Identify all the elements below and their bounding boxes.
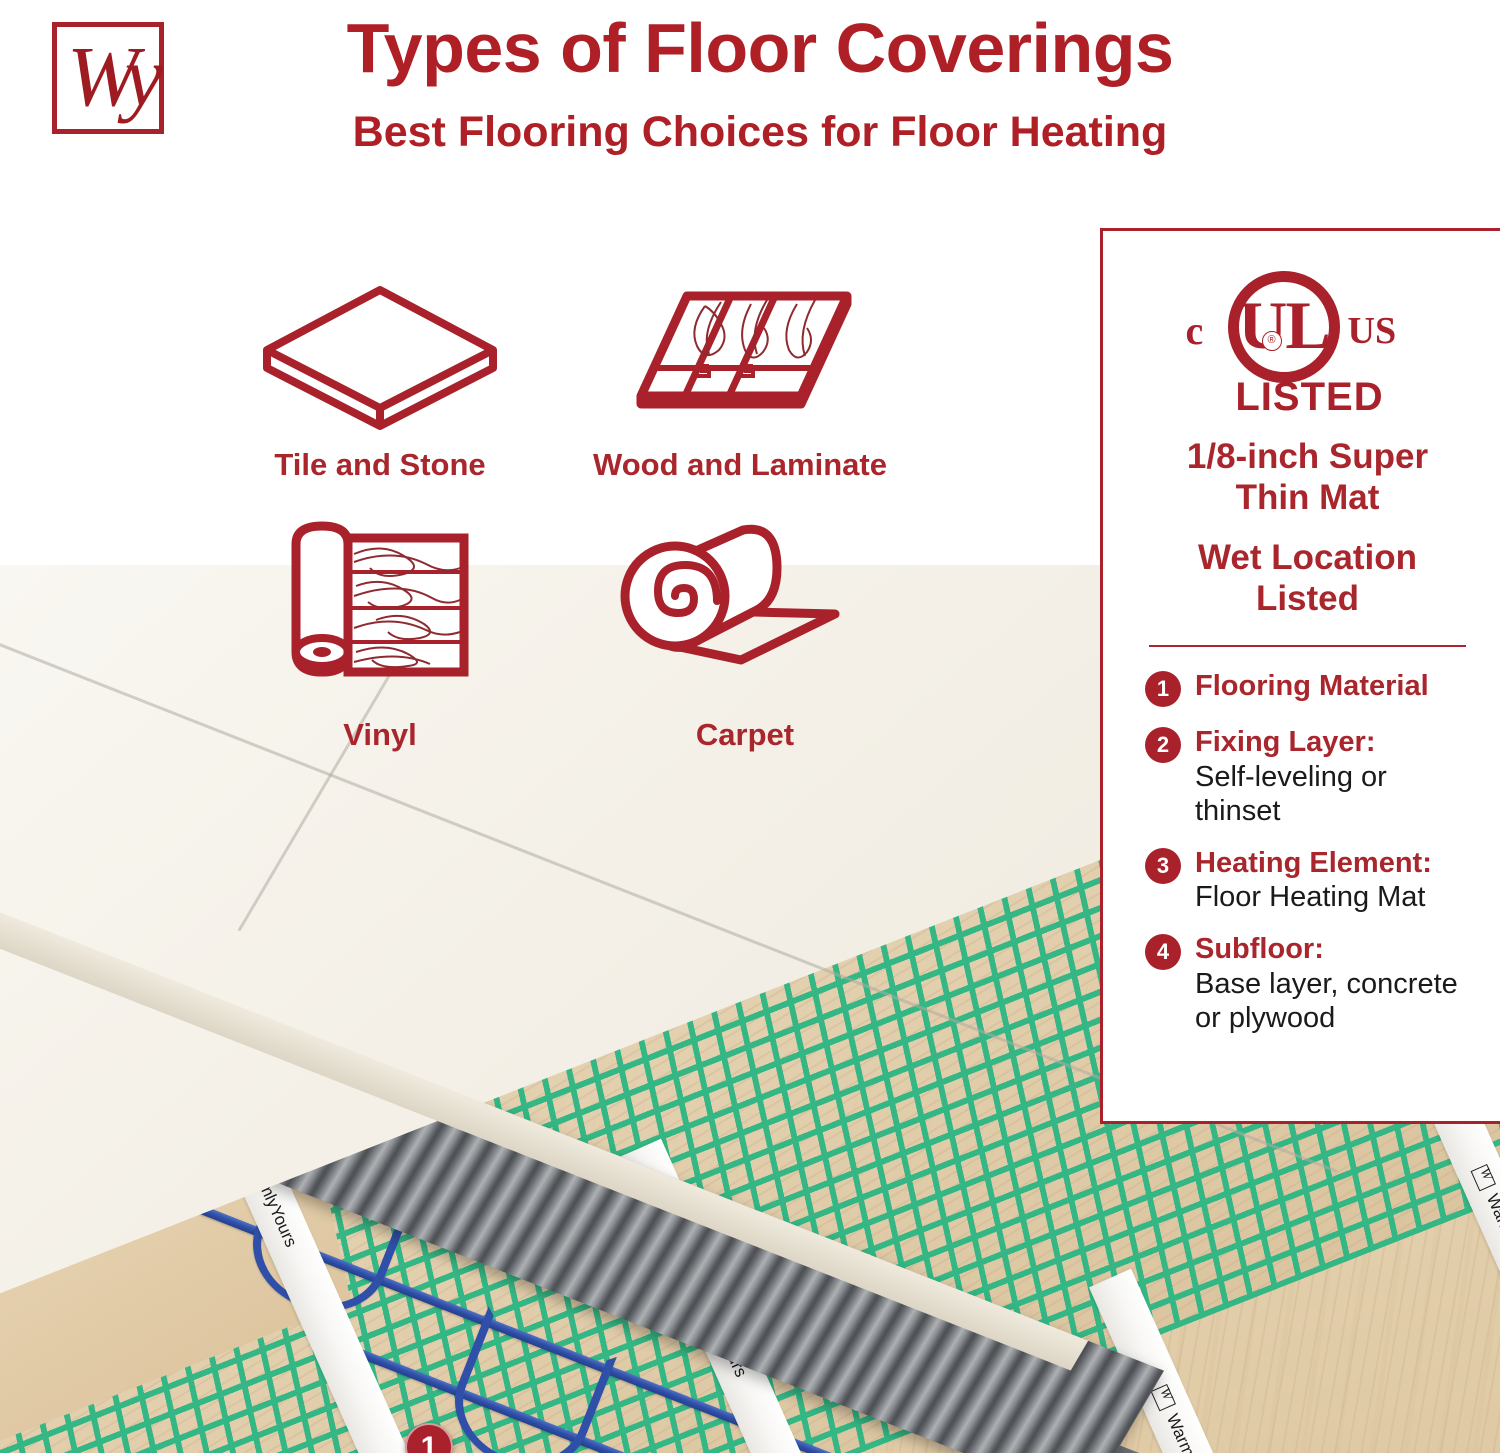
legend-title-4: Subfloor:: [1195, 932, 1470, 966]
flooring-type-label: Tile and Stone: [180, 447, 580, 483]
legend-text-3: Heating Element: Floor Heating Mat: [1195, 846, 1432, 914]
ul-mark-letters: UL: [1228, 271, 1340, 383]
ul-headline-line-1: 1/8-inch Super: [1145, 437, 1470, 478]
flooring-type-label: Vinyl: [185, 717, 575, 753]
legend-title-3: Heating Element:: [1195, 846, 1432, 880]
flooring-type-tile-and-stone: Tile and Stone: [180, 280, 580, 483]
vinyl-roll-icon: [185, 510, 575, 705]
flooring-type-wood-and-laminate: Wood and Laminate: [540, 280, 940, 483]
legend-title-2: Fixing Layer:: [1195, 725, 1470, 759]
legend-desc-2: Self-leveling or thinset: [1195, 760, 1470, 828]
ul-panel-headline-secondary: Wet Location Listed: [1145, 538, 1470, 619]
ul-listing-panel: c UL ® US LISTED 1/8-inch Super Thin Mat…: [1100, 228, 1500, 1124]
legend-title-1: Flooring Material: [1195, 670, 1429, 702]
ul-panel-headline: 1/8-inch Super Thin Mat: [1145, 437, 1470, 518]
infographic-root: WarmlyYours WarmlyYours WarmlyYours Warm…: [0, 0, 1500, 1453]
warmlyyours-mini-logo-icon: [1151, 1384, 1176, 1411]
flooring-type-label: Carpet: [545, 717, 945, 753]
legend-desc-4: Base layer, concrete or plywood: [1195, 967, 1470, 1035]
carpet-roll-icon: [545, 510, 945, 705]
page-subtitle: Best Flooring Choices for Floor Heating: [190, 108, 1330, 157]
legend-text-4: Subfloor: Base layer, concrete or plywoo…: [1195, 932, 1470, 1035]
flooring-type-label: Wood and Laminate: [540, 447, 940, 483]
cul-us-listed-mark-icon: c UL ® US LISTED: [1158, 269, 1458, 419]
legend-text-1: Flooring Material: [1195, 669, 1429, 703]
panel-divider: [1149, 645, 1466, 647]
legend-badge-2: 2: [1145, 727, 1181, 763]
flooring-type-carpet: Carpet: [545, 510, 945, 753]
ul-mark-registered-icon: ®: [1262, 331, 1282, 351]
brand-logo-icon: Wy: [48, 16, 176, 144]
legend-item-4: 4 Subfloor: Base layer, concrete or plyw…: [1145, 932, 1470, 1035]
tile-slab-icon: [180, 280, 580, 435]
legend-item-2: 2 Fixing Layer: Self-leveling or thinset: [1145, 725, 1470, 828]
legend-item-3: 3 Heating Element: Floor Heating Mat: [1145, 846, 1470, 914]
legend-badge-1: 1: [1145, 671, 1181, 707]
ul-mark-suffix-us: US: [1348, 309, 1397, 353]
wood-plank-icon: [540, 280, 940, 435]
flooring-type-vinyl: Vinyl: [185, 510, 575, 753]
ul-mark-listed-word: LISTED: [1220, 375, 1400, 420]
ul-headline-line-2: Thin Mat: [1145, 478, 1470, 519]
legend-item-1: 1 Flooring Material: [1145, 669, 1470, 707]
legend-badge-3: 3: [1145, 848, 1181, 884]
warmlyyours-mini-logo-icon: [1471, 1164, 1496, 1191]
page-header: Wy Types of Floor Coverings Best Floorin…: [0, 0, 1500, 200]
ul-headline2-line-2: Listed: [1145, 579, 1470, 620]
legend-desc-3: Floor Heating Mat: [1195, 880, 1432, 914]
legend-text-2: Fixing Layer: Self-leveling or thinset: [1195, 725, 1470, 828]
page-title: Types of Floor Coverings: [190, 8, 1330, 88]
ul-mark-prefix-c: c: [1186, 307, 1204, 354]
legend-badge-4: 4: [1145, 934, 1181, 970]
ul-headline2-line-1: Wet Location: [1145, 538, 1470, 579]
